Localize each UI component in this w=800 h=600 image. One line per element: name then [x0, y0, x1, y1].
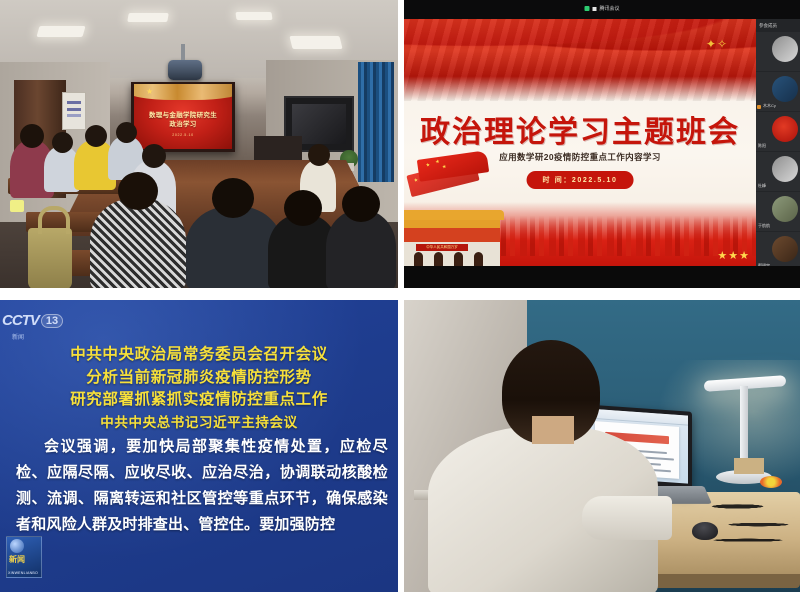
photo-online-meeting-slide: 腾讯会议 ✦✧ ★ ★ ★ ★ 政治理论学习主题班会 应用数学研20疫情防控重点… [404, 0, 800, 288]
meeting-topbar: 腾讯会议 [404, 0, 800, 19]
news-headline: 中共中央政治局常务委员会召开会议 分析当前新冠肺炎疫情防控形势 研究部署抓紧抓实… [0, 344, 398, 434]
photo-collage: ★ 数理与金融学院研究生 政治学习 2022.5.10 [0, 0, 800, 600]
globe-icon [10, 539, 24, 553]
avatar [772, 36, 798, 62]
headline-subline: 中共中央总书记习近平主持会议 [0, 412, 398, 435]
star-icon: ★ [146, 87, 153, 96]
attendee [90, 198, 186, 290]
dove-icon: ✦✧ [706, 37, 728, 51]
participant-name: 陈阳 [758, 143, 766, 149]
avatar [772, 76, 798, 102]
bottom-margin [0, 592, 800, 600]
channel-number: 13 [41, 314, 63, 328]
stars-icon: ★★★ [717, 249, 750, 262]
avatar [772, 196, 798, 222]
microphone-icon [757, 105, 761, 109]
plaque: 中华人民共和国万岁 [416, 244, 468, 251]
arch [474, 252, 483, 266]
app-icon [592, 7, 596, 11]
avatar [772, 116, 798, 142]
news-body-text: 会议强调，要加快局部聚集性疫情处置，应检尽检、应隔尽隔、应收尽收、应治尽治，协调… [16, 434, 388, 538]
participant-name: 杜峰 [758, 183, 766, 189]
shared-slide: ✦✧ ★ ★ ★ ★ 政治理论学习主题班会 应用数学研20疫情防控重点工作内容学… [404, 19, 756, 266]
channel-sub-label: 新闻 [12, 332, 24, 341]
dorm-room-scene [404, 300, 800, 592]
avatar [772, 156, 798, 182]
participants-header: 参会成员 [756, 19, 800, 32]
cables [696, 496, 800, 548]
participant-tile[interactable] [756, 32, 800, 72]
arch [454, 252, 463, 266]
photo-meeting-room: ★ 数理与金融学院研究生 政治学习 2022.5.10 [0, 0, 398, 290]
student-arm [582, 496, 672, 540]
xinwenlianbo-logo: 新闻 XINWENLIANBO [6, 536, 42, 578]
paper-cup [10, 200, 24, 212]
cctv-mark: CCTV [2, 312, 39, 329]
headline-line-1: 中共中央政治局常务委员会召开会议 [0, 344, 398, 367]
avatar [772, 236, 798, 262]
arch [414, 252, 423, 266]
slide-subtitle: 应用数学研20疫情防控重点工作内容学习 [404, 151, 756, 163]
tiananmen-graphic: 中华人民共和国万岁 [404, 216, 500, 266]
headline-line-3: 研究部署抓紧抓实疫情防控重点工作 [0, 389, 398, 412]
participant-tile[interactable]: 陈阳 [756, 112, 800, 152]
arch [434, 252, 443, 266]
slide-letterbox [404, 266, 800, 288]
neck [532, 416, 574, 444]
tote-bag [28, 228, 72, 290]
slide-title: 政治理论学习主题班会 [404, 107, 756, 151]
projection-screen: ★ 数理与金融学院研究生 政治学习 2022.5.10 [134, 84, 232, 149]
horizontal-gutter [0, 288, 800, 300]
vertical-gutter [398, 0, 404, 600]
roof [404, 210, 504, 220]
ceiling-light [127, 13, 169, 22]
participant-name: 木木Cy [763, 103, 776, 109]
meeting-status: 腾讯会议 [584, 5, 619, 12]
tape-roll [760, 476, 782, 488]
participant-name: 于航航 [758, 223, 770, 229]
projector-slide-date: 2022.5.10 [134, 133, 232, 137]
participant-tile[interactable]: 于航航 [756, 192, 800, 232]
ceiling-light [36, 26, 85, 37]
photo-news-broadcast: CCTV 13 新闻 中共中央政治局常务委员会召开会议 分析当前新冠肺炎疫情防控… [0, 300, 398, 592]
meeting-room-scene: ★ 数理与金融学院研究生 政治学习 2022.5.10 [0, 0, 398, 290]
program-name-en: XINWENLIANBO [8, 571, 38, 575]
attendee [326, 210, 396, 290]
participant-tile[interactable]: 杜峰 [756, 152, 800, 192]
participant-tile[interactable]: 木木Cy [756, 72, 800, 112]
program-name-cn: 新闻 [9, 554, 25, 565]
participant-sidebar[interactable]: 参会成员 木木Cy 陈阳 杜峰 [756, 19, 800, 266]
red-curtain-graphic [404, 19, 756, 101]
ceiling-light [235, 12, 272, 20]
meeting-app-label: 腾讯会议 [599, 5, 619, 12]
wall-poster [62, 92, 86, 130]
projector [168, 60, 202, 80]
paper-box [734, 458, 764, 474]
computer-mouse [692, 522, 718, 540]
headline-line-2: 分析当前新冠肺炎疫情防控形势 [0, 367, 398, 390]
signal-icon [584, 6, 589, 11]
projector-slide-title: 数理与金融学院研究生 政治学习 [134, 111, 232, 129]
photo-student-desk [404, 300, 800, 592]
ceiling-light [289, 36, 342, 49]
slide-date-badge: 时 间：2022.5.10 [527, 171, 634, 189]
window-curtain [358, 62, 394, 182]
cctv-logo: CCTV 13 [2, 312, 63, 329]
